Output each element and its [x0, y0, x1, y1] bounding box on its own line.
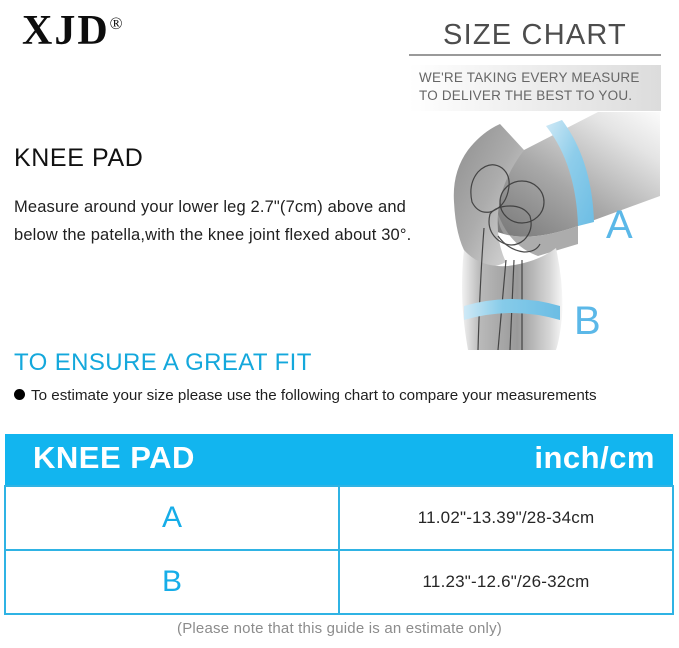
row-label-b: B — [5, 550, 339, 614]
product-title: KNEE PAD — [14, 144, 444, 173]
fit-section: TO ENSURE A GREAT FIT To estimate your s… — [0, 350, 679, 407]
table-row: A 11.02"-13.39"/28-34cm — [5, 486, 673, 550]
table-header-product: KNEE PAD — [5, 434, 339, 486]
brand-logo: XJD® — [22, 10, 123, 52]
row-value-b: 11.23"-12.6"/26-32cm — [339, 550, 673, 614]
product-text-block: KNEE PAD Measure around your lower leg 2… — [14, 144, 444, 250]
row-label-a: A — [5, 486, 339, 550]
tagline-box: WE'RE TAKING EVERY MEASURE TO DELIVER TH… — [409, 65, 661, 111]
header-title-block: SIZE CHART WE'RE TAKING EVERY MEASURE TO… — [409, 20, 661, 111]
size-chart-table: KNEE PAD inch/cm A 11.02"-13.39"/28-34cm… — [4, 434, 674, 615]
page-header: XJD® SIZE CHART WE'RE TAKING EVERY MEASU… — [0, 0, 679, 118]
knee-illustration: A B — [428, 110, 678, 350]
fit-note: To estimate your size please use the fol… — [14, 385, 624, 407]
label-a: A — [606, 203, 633, 247]
product-description: Measure around your lower leg 2.7"(7cm) … — [14, 193, 444, 250]
bullet-icon — [14, 389, 25, 400]
fit-heading: TO ENSURE A GREAT FIT — [14, 350, 679, 376]
footer-note: (Please note that this guide is an estim… — [0, 620, 679, 637]
tagline-line-2: TO DELIVER THE BEST TO YOU. — [419, 87, 653, 105]
registered-trademark-icon: ® — [110, 14, 123, 33]
tagline-line-1: WE'RE TAKING EVERY MEASURE — [419, 69, 653, 87]
fit-note-text: To estimate your size please use the fol… — [31, 387, 597, 404]
row-value-a: 11.02"-13.39"/28-34cm — [339, 486, 673, 550]
table-header-row: KNEE PAD inch/cm — [5, 434, 673, 486]
table-header-unit: inch/cm — [339, 434, 673, 486]
table-row: B 11.23"-12.6"/26-32cm — [5, 550, 673, 614]
size-chart-title: SIZE CHART — [409, 20, 661, 56]
brand-name: XJD — [22, 8, 110, 54]
label-b: B — [574, 299, 601, 343]
product-section: KNEE PAD Measure around your lower leg 2… — [0, 118, 679, 350]
